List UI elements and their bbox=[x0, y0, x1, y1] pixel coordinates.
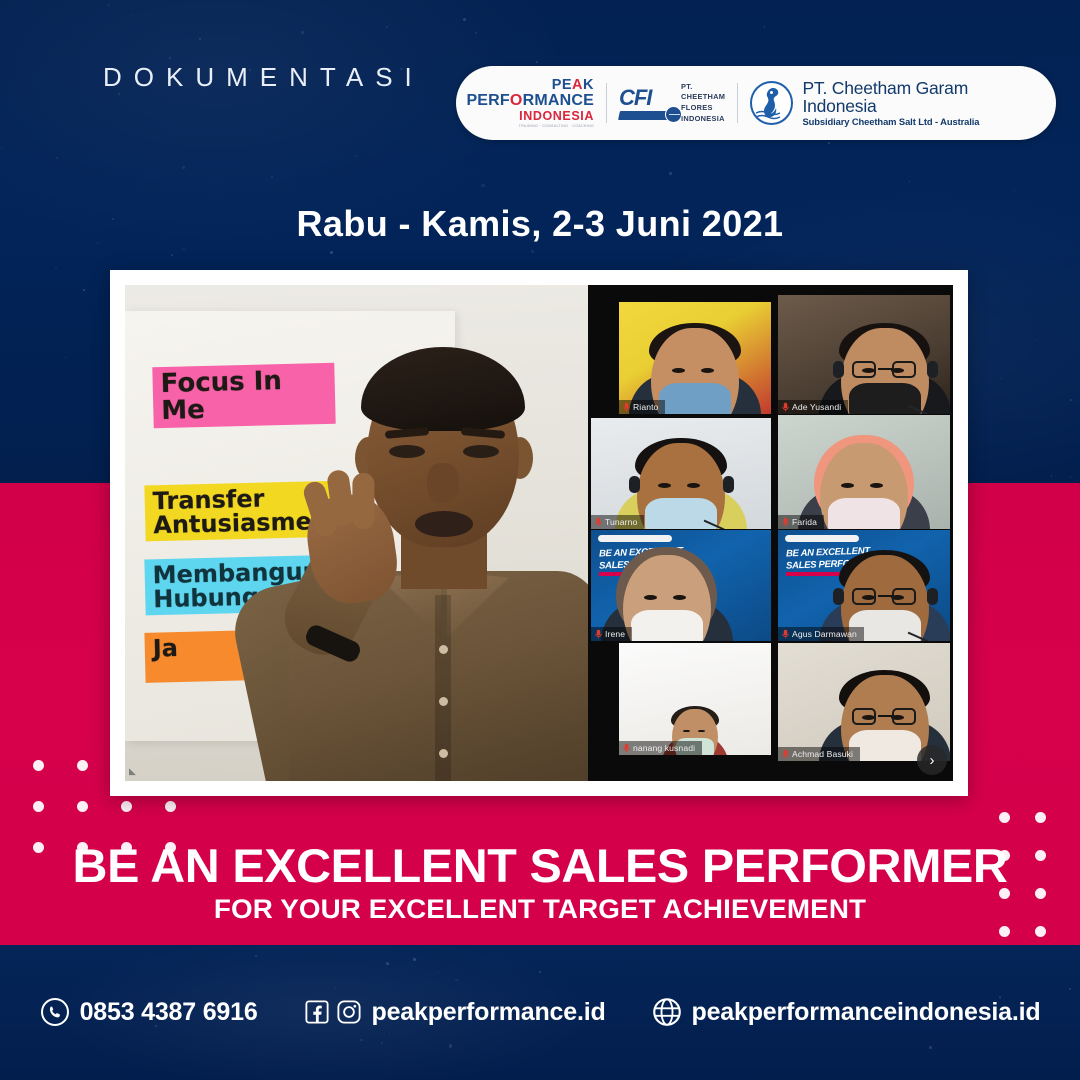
speaker-video-pane: Focus In Me Transfer Antusiasme Membangu… bbox=[125, 285, 588, 781]
speaker-shirt-button bbox=[439, 749, 448, 758]
participant-face-mask bbox=[849, 383, 921, 414]
whatsapp-icon bbox=[40, 997, 70, 1027]
zoom-participant-tile[interactable]: nanang kusnadi bbox=[619, 643, 771, 755]
pp-logo-line3: INDONESIA bbox=[519, 110, 594, 123]
cheetham-garam-logo: PT. Cheetham Garam Indonesia Subsidiary … bbox=[750, 79, 1042, 128]
participant-nametag: Irene bbox=[591, 627, 632, 641]
participant-figure bbox=[778, 643, 950, 761]
zoom-participant-tile[interactable]: Achmad Basuki bbox=[778, 643, 950, 761]
speaker-finger bbox=[352, 473, 374, 529]
participant-nametag: Achmad Basuki bbox=[778, 747, 860, 761]
participant-face-mask bbox=[645, 498, 717, 529]
footer-social-text: peakperformance.id bbox=[372, 998, 606, 1027]
participant-headset-right bbox=[723, 476, 734, 493]
participant-nametag: Tunarno bbox=[591, 515, 644, 529]
speaker-nose bbox=[427, 463, 459, 503]
mic-muted-icon bbox=[782, 749, 789, 759]
poster-canvas: DOKUMENTASI PEAK PERFORMANCE INDONESIA T… bbox=[0, 0, 1080, 1080]
participant-glasses-bridge bbox=[878, 715, 893, 717]
participant-figure bbox=[619, 643, 771, 755]
zoom-screenshot: Focus In Me Transfer Antusiasme Membangu… bbox=[125, 285, 953, 781]
participant-video: Farida bbox=[778, 415, 950, 529]
zoom-participant-tile[interactable]: Ade Yusandi bbox=[778, 295, 950, 414]
decorative-dot bbox=[121, 801, 132, 812]
participant-nametag: nanang kusnadi bbox=[619, 741, 702, 755]
mic-muted-icon bbox=[595, 629, 602, 639]
sponsor-logo-bar: PEAK PERFORMANCE INDONESIA TRAINING · CO… bbox=[456, 66, 1056, 140]
speaker-hair bbox=[361, 347, 525, 431]
footer-website[interactable]: peakperformanceindonesia.id bbox=[652, 997, 1041, 1027]
participant-glasses-right bbox=[892, 588, 916, 605]
participant-video: Ade Yusandi bbox=[778, 295, 950, 414]
participant-figure bbox=[619, 302, 771, 414]
logo-divider-2 bbox=[737, 83, 738, 123]
decorative-dot bbox=[999, 812, 1010, 823]
speaker-mouth bbox=[415, 511, 473, 537]
decorative-dot bbox=[77, 801, 88, 812]
cfi-logo: CFI PT. CHEETHAM FLORES INDONESIA bbox=[619, 82, 725, 124]
cfi-wordmark: PT. CHEETHAM FLORES INDONESIA bbox=[681, 82, 725, 124]
participant-video: BE AN EXCELLENTSALES PERFORMERIrene bbox=[591, 530, 771, 641]
footer-phone-text: 0853 4387 6916 bbox=[80, 998, 258, 1027]
participant-video: nanang kusnadi bbox=[619, 643, 771, 755]
participant-name: Irene bbox=[605, 629, 625, 639]
decorative-dot bbox=[999, 926, 1010, 937]
mic-muted-icon bbox=[623, 743, 630, 753]
mic-muted-icon bbox=[782, 517, 789, 527]
mic-muted-icon bbox=[782, 402, 789, 412]
participant-figure bbox=[591, 530, 771, 641]
participant-glasses-left bbox=[852, 588, 876, 605]
zoom-participant-tile[interactable]: BE AN EXCELLENTSALES PERFORMERAgus Darma… bbox=[778, 530, 950, 641]
dokumentasi-label: DOKUMENTASI bbox=[103, 62, 424, 93]
participant-name: nanang kusnadi bbox=[633, 743, 695, 753]
pp-logo-tagline: TRAINING · CONSULTING · COACHING bbox=[519, 125, 594, 128]
decorative-dot bbox=[165, 801, 176, 812]
cfi-line4: INDONESIA bbox=[681, 114, 725, 125]
page-title: BE AN EXCELLENT SALES PERFORMER bbox=[0, 838, 1080, 893]
participant-glasses-left bbox=[852, 361, 876, 378]
pp-logo-line1: PEAK bbox=[552, 78, 594, 93]
cfi-mark-icon: CFI bbox=[619, 87, 679, 120]
event-date: Rabu - Kamis, 2-3 Juni 2021 bbox=[0, 203, 1080, 245]
participant-face-mask bbox=[828, 498, 900, 529]
participant-name: Achmad Basuki bbox=[792, 749, 853, 759]
participant-headset-left bbox=[833, 361, 844, 378]
cheetham-subtitle: Subsidiary Cheetham Salt Ltd - Australia bbox=[802, 116, 1042, 127]
cfi-line3: FLORES bbox=[681, 103, 725, 114]
speaker-figure bbox=[275, 345, 588, 781]
participant-glasses-right bbox=[892, 708, 916, 725]
footer-phone[interactable]: 0853 4387 6916 bbox=[40, 997, 258, 1027]
participant-eye-right bbox=[701, 368, 714, 373]
participant-headset-right bbox=[927, 361, 938, 378]
zoom-resize-grip[interactable]: ◣ bbox=[129, 766, 136, 777]
zoom-participant-tile[interactable]: Rianto bbox=[619, 302, 771, 414]
participant-eye-left bbox=[672, 368, 685, 373]
participant-glasses-bridge bbox=[878, 368, 893, 370]
zoom-participant-grid: RiantoAde YusandiTunarnoFaridaBE AN EXCE… bbox=[588, 285, 953, 781]
participant-name: Farida bbox=[792, 517, 817, 527]
participant-name: Ade Yusandi bbox=[792, 402, 841, 412]
participant-eye-left bbox=[644, 595, 657, 600]
participant-figure bbox=[778, 415, 950, 529]
cheetham-title: PT. Cheetham Garam Indonesia bbox=[802, 79, 1042, 116]
participant-nametag: Farida bbox=[778, 515, 824, 529]
zoom-next-page-button[interactable]: › bbox=[917, 745, 947, 775]
social-icon-group bbox=[304, 999, 362, 1025]
footer-contact-bar: 0853 4387 6916 peakperformance.id bbox=[0, 988, 1080, 1036]
participant-nametag: Agus Darmawan bbox=[778, 627, 864, 641]
participant-face-mask bbox=[631, 610, 703, 641]
decorative-dot bbox=[33, 801, 44, 812]
decorative-dot bbox=[1035, 812, 1046, 823]
decorative-dot bbox=[1035, 926, 1046, 937]
participant-headset-right bbox=[927, 588, 938, 605]
globe-icon bbox=[652, 997, 682, 1027]
cfi-globe-icon bbox=[665, 106, 682, 123]
cfi-line1: PT. bbox=[681, 82, 725, 93]
participant-figure bbox=[778, 530, 950, 641]
logo-divider-1 bbox=[606, 83, 607, 123]
speaker-eye-left bbox=[389, 445, 425, 458]
speaker-shirt-button bbox=[439, 645, 448, 654]
zoom-participant-tile[interactable]: Tunarno bbox=[591, 418, 771, 529]
participant-eye-left bbox=[841, 483, 854, 488]
pp-logo-line2: PERFORMANCE bbox=[466, 93, 594, 109]
participant-eye-right bbox=[870, 483, 883, 488]
participant-eye-right bbox=[673, 595, 686, 600]
speaker-eye-right bbox=[463, 445, 499, 458]
cfi-line2: CHEETHAM bbox=[681, 92, 725, 103]
facebook-icon bbox=[304, 999, 330, 1025]
participant-headset-left bbox=[833, 588, 844, 605]
zoom-participant-tile[interactable]: Farida bbox=[778, 415, 950, 529]
participant-video: BE AN EXCELLENTSALES PERFORMERAgus Darma… bbox=[778, 530, 950, 641]
mic-muted-icon bbox=[595, 517, 602, 527]
instagram-icon bbox=[336, 999, 362, 1025]
footer-website-text: peakperformanceindonesia.id bbox=[692, 998, 1041, 1027]
participant-name: Agus Darmawan bbox=[792, 629, 857, 639]
zoom-participant-tile[interactable]: BE AN EXCELLENTSALES PERFORMERIrene bbox=[591, 530, 771, 641]
participant-figure bbox=[778, 295, 950, 414]
speaker-shirt-button bbox=[439, 697, 448, 706]
participant-nametag: Rianto bbox=[619, 400, 665, 414]
participant-video: Achmad Basuki bbox=[778, 643, 950, 761]
mic-muted-icon bbox=[623, 402, 630, 412]
participant-glasses-right bbox=[892, 361, 916, 378]
participant-glasses-left bbox=[852, 708, 876, 725]
participant-eye-right bbox=[687, 483, 700, 488]
cheetham-seahorse-icon bbox=[750, 81, 793, 125]
participant-glasses-bridge bbox=[878, 595, 893, 597]
participant-eye-left bbox=[658, 483, 671, 488]
photo-frame: Focus In Me Transfer Antusiasme Membangu… bbox=[110, 270, 968, 796]
peak-performance-logo: PEAK PERFORMANCE INDONESIA TRAINING · CO… bbox=[474, 78, 594, 128]
decorative-dot bbox=[77, 760, 88, 771]
mic-muted-icon bbox=[782, 629, 789, 639]
participant-figure bbox=[591, 418, 771, 529]
cfi-monogram: CFI bbox=[619, 87, 679, 109]
participant-video: Rianto bbox=[619, 302, 771, 414]
page-subtitle: FOR YOUR EXCELLENT TARGET ACHIEVEMENT bbox=[0, 894, 1080, 925]
footer-social[interactable]: peakperformance.id bbox=[304, 998, 606, 1027]
participant-name: Tunarno bbox=[605, 517, 637, 527]
decorative-dot bbox=[33, 760, 44, 771]
participant-face-mask bbox=[659, 383, 731, 414]
participant-nametag: Ade Yusandi bbox=[778, 400, 848, 414]
participant-name: Rianto bbox=[633, 402, 658, 412]
participant-video: Tunarno bbox=[591, 418, 771, 529]
participant-headset-left bbox=[629, 476, 640, 493]
